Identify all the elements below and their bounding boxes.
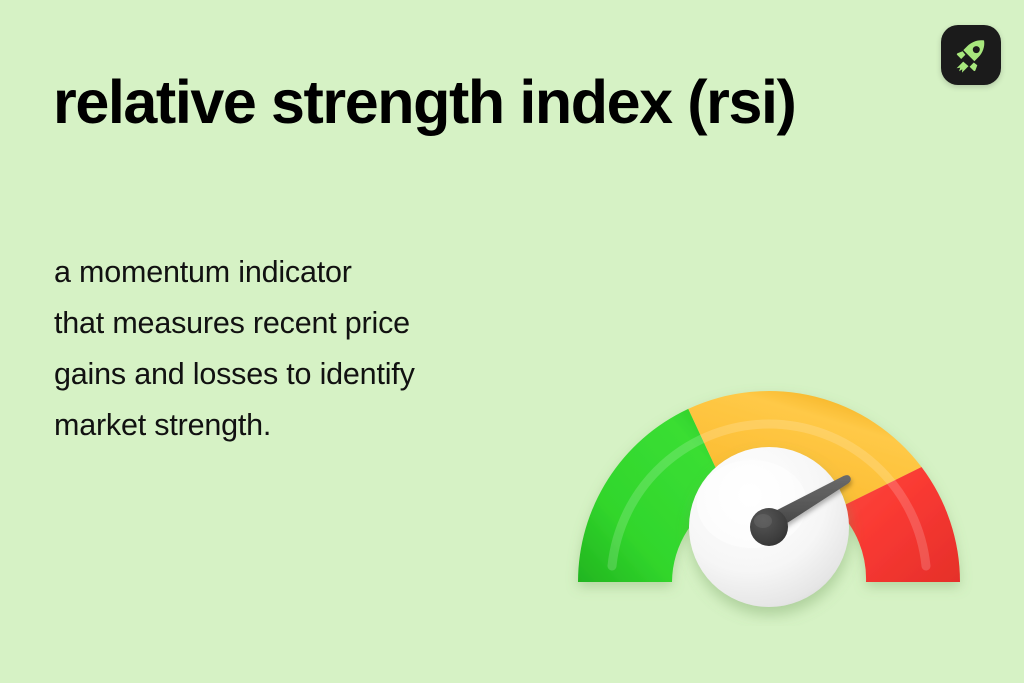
gauge-pivot-highlight bbox=[754, 514, 772, 528]
brand-logo[interactable] bbox=[941, 25, 1001, 85]
description-line-1: a momentum indicator bbox=[54, 247, 574, 298]
description-line-2: that measures recent price bbox=[54, 298, 574, 349]
slide-canvas: relative strength index (rsi) a momentum… bbox=[0, 0, 1024, 683]
description-line-4: market strength. bbox=[54, 400, 574, 451]
rocket-icon bbox=[950, 34, 992, 76]
rsi-gauge-illustration bbox=[552, 316, 992, 626]
description-text: a momentum indicator that measures recen… bbox=[54, 247, 574, 451]
gauge-needle-pivot bbox=[750, 508, 788, 546]
description-line-3: gains and losses to identify bbox=[54, 349, 574, 400]
page-title: relative strength index (rsi) bbox=[53, 68, 913, 136]
